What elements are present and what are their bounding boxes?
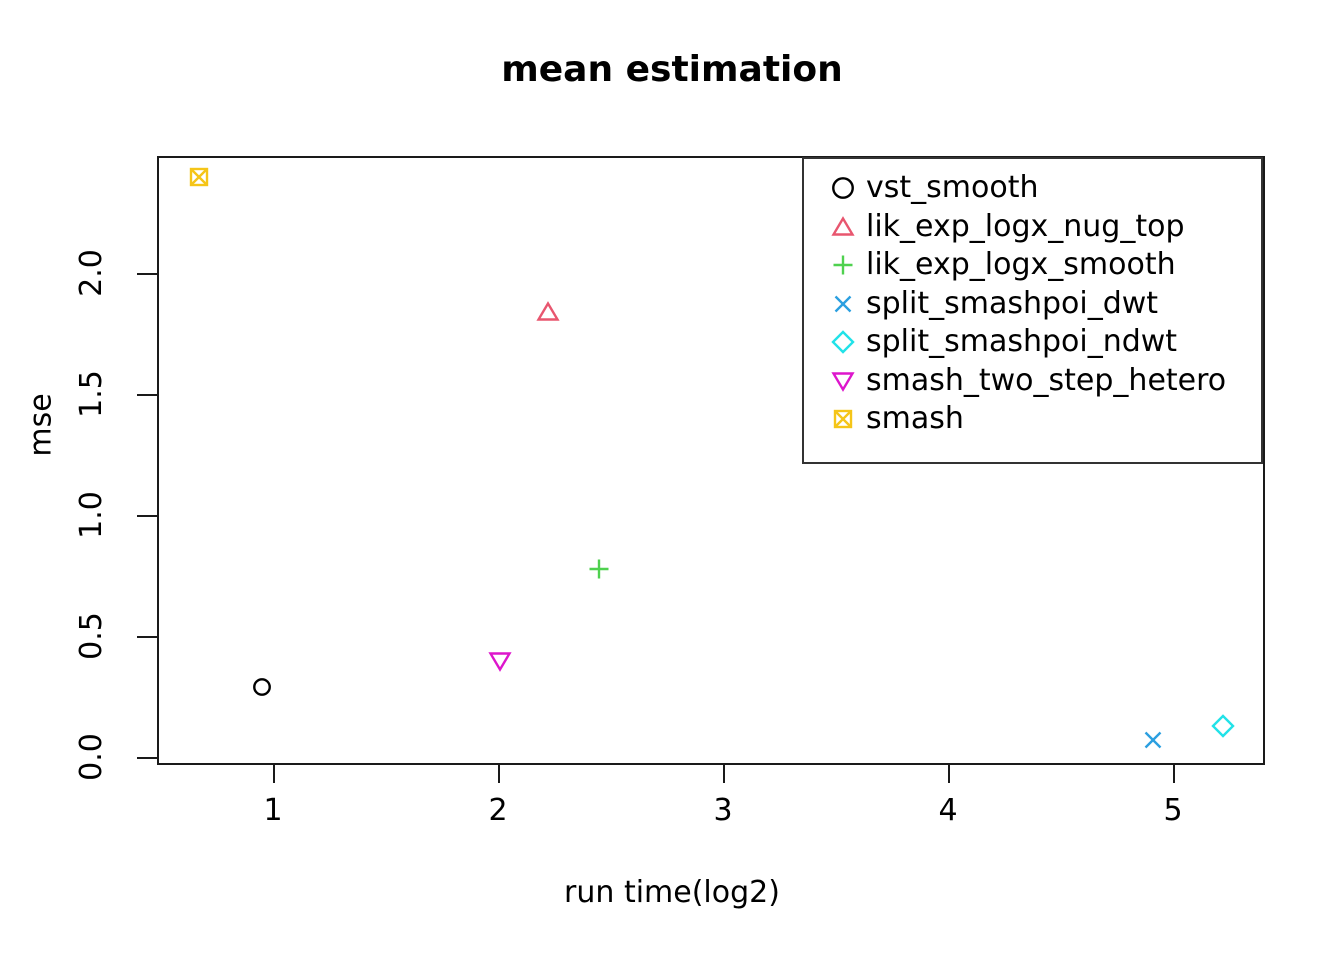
- data-point-triangle-down-open: [487, 648, 513, 678]
- legend-item-label: split_smashpoi_ndwt: [866, 327, 1177, 357]
- legend: vst_smoothlik_exp_logx_nug_toplik_exp_lo…: [802, 157, 1263, 464]
- legend-item-label: lik_exp_logx_smooth: [866, 250, 1176, 280]
- y-tick-mark: [137, 757, 157, 759]
- page-title: mean estimation: [0, 52, 1344, 88]
- x-tick-mark: [273, 765, 275, 783]
- y-tick-label-text: 0.0: [77, 733, 107, 781]
- legend-item[interactable]: split_smashpoi_ndwt: [804, 323, 1261, 362]
- legend-item[interactable]: lik_exp_logx_nug_top: [804, 208, 1261, 247]
- legend-item[interactable]: smash: [804, 400, 1261, 439]
- y-tick-mark: [137, 515, 157, 517]
- circle-open-icon: [820, 171, 866, 205]
- legend-item-label: smash_two_step_hetero: [866, 366, 1226, 396]
- data-point-cross: [1140, 727, 1166, 757]
- data-point-plus: [586, 556, 612, 586]
- data-point-triangle-up-open: [535, 299, 561, 329]
- x-tick-mark: [723, 765, 725, 783]
- data-point-square-cross: [186, 164, 212, 194]
- x-tick-mark: [1173, 765, 1175, 783]
- legend-item[interactable]: split_smashpoi_dwt: [804, 285, 1261, 324]
- x-tick-mark: [498, 765, 500, 783]
- y-tick-label-text: 1.0: [77, 491, 107, 539]
- legend-item-label: smash: [866, 404, 964, 434]
- x-tick-label: 2: [488, 796, 507, 826]
- y-tick-mark: [137, 636, 157, 638]
- y-tick-label-text: 2.0: [77, 249, 107, 297]
- triangle-down-open-icon: [820, 364, 866, 398]
- data-point-circle-open: [249, 674, 275, 704]
- x-tick-label: 4: [938, 796, 957, 826]
- y-axis-title-text: mse: [27, 393, 57, 456]
- triangle-up-open-icon: [820, 210, 866, 244]
- y-tick-mark: [137, 394, 157, 396]
- x-tick-label: 1: [263, 796, 282, 826]
- square-cross-icon: [820, 402, 866, 436]
- y-tick-label-text: 1.5: [77, 370, 107, 418]
- y-axis-title: mse: [10, 410, 50, 440]
- x-axis-title: run time(log2): [0, 878, 1344, 908]
- legend-item-label: vst_smooth: [866, 173, 1039, 203]
- plus-icon: [820, 248, 866, 282]
- legend-item-label: lik_exp_logx_nug_top: [866, 212, 1185, 242]
- data-point-diamond-open: [1210, 713, 1236, 743]
- scatter-plot-figure: mean estimation 0.00.51.01.52.0 12345 ru…: [0, 0, 1344, 960]
- cross-icon: [820, 287, 866, 321]
- x-tick-mark: [948, 765, 950, 783]
- legend-item-label: split_smashpoi_dwt: [866, 289, 1158, 319]
- x-tick-label: 5: [1163, 796, 1182, 826]
- x-tick-label: 3: [713, 796, 732, 826]
- legend-items: vst_smoothlik_exp_logx_nug_toplik_exp_lo…: [804, 169, 1261, 439]
- legend-item[interactable]: smash_two_step_hetero: [804, 362, 1261, 401]
- y-tick-label-text: 0.5: [77, 612, 107, 660]
- y-tick-mark: [137, 273, 157, 275]
- legend-item[interactable]: lik_exp_logx_smooth: [804, 246, 1261, 285]
- diamond-open-icon: [820, 325, 866, 359]
- legend-item[interactable]: vst_smooth: [804, 169, 1261, 208]
